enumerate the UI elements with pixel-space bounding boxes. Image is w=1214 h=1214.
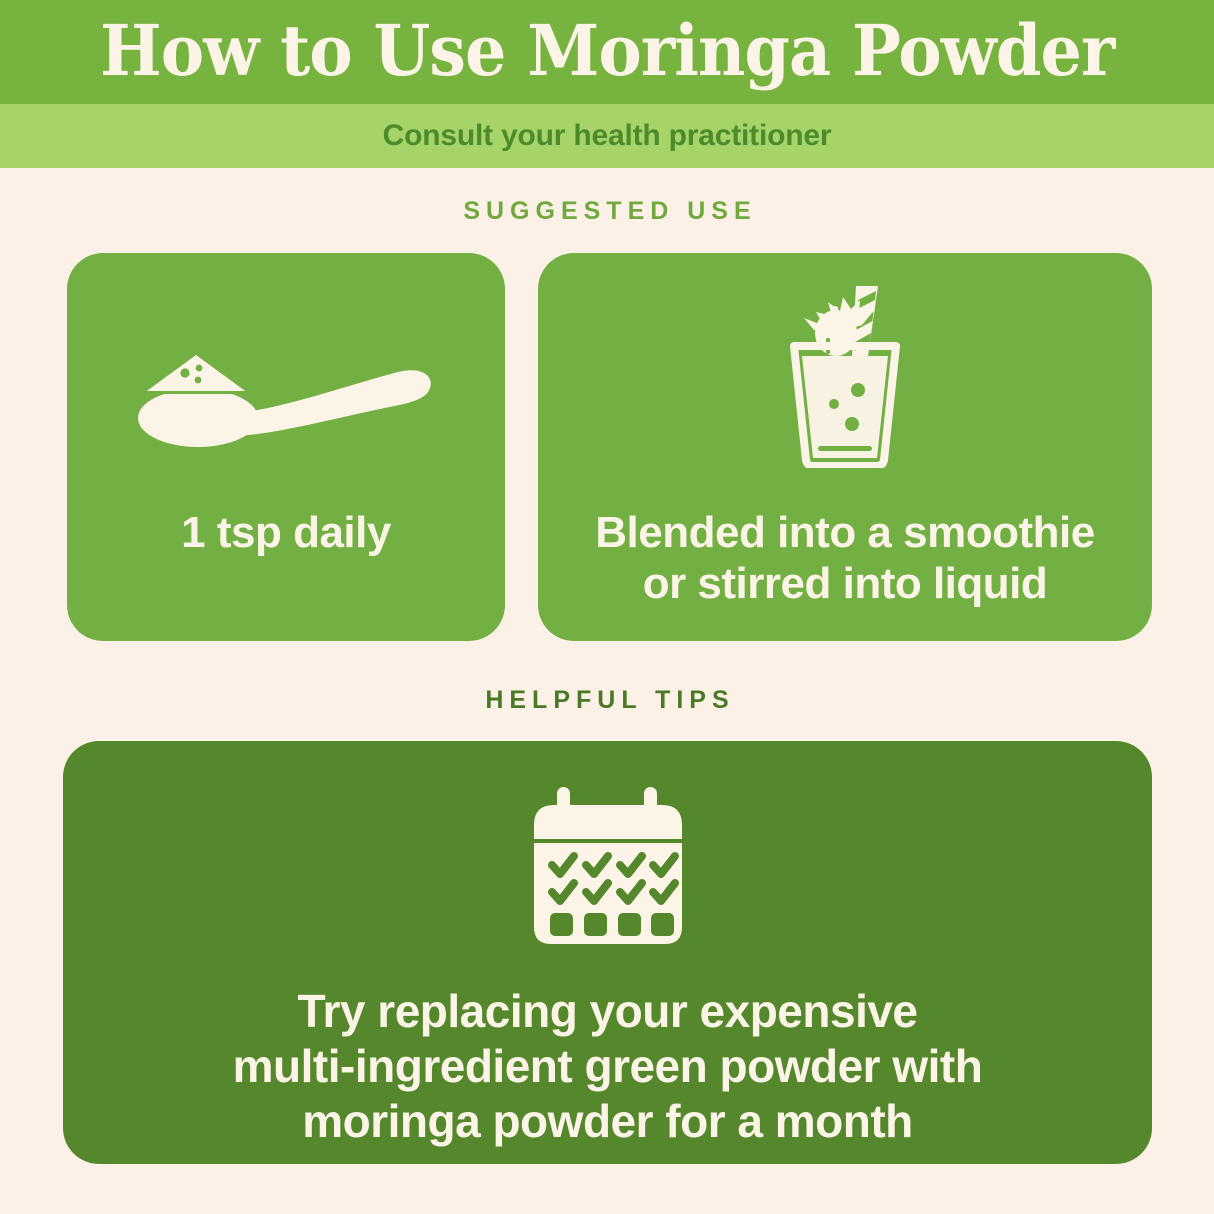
card-mixing-line-1: Blended into a smoothie xyxy=(595,507,1094,558)
card-tip-label: Try replacing your expensive multi-ingre… xyxy=(233,984,983,1150)
card-dosage-label: 1 tsp daily xyxy=(181,507,391,558)
subheader-band: Consult your health practitioner xyxy=(0,104,1214,168)
page-title: How to Use Moringa Powder xyxy=(100,16,1114,86)
smoothie-glass-icon xyxy=(780,278,910,473)
card-mixing-label: Blended into a smoothie or stirred into … xyxy=(595,507,1094,609)
card-mixing: Blended into a smoothie or stirred into … xyxy=(538,253,1152,641)
page-subtitle: Consult your health practitioner xyxy=(383,119,832,153)
card-tip: Try replacing your expensive multi-ingre… xyxy=(63,741,1152,1164)
calendar-icon xyxy=(524,787,692,952)
card-tip-line-3: moringa powder for a month xyxy=(233,1094,983,1149)
section-label-suggested-use: SUGGESTED USE xyxy=(0,197,1214,226)
spoon-of-powder-icon xyxy=(136,346,436,461)
section-label-helpful-tips: HELPFUL TIPS xyxy=(0,686,1214,715)
card-dosage: 1 tsp daily xyxy=(67,253,505,641)
card-tip-line-1: Try replacing your expensive xyxy=(233,984,983,1039)
card-tip-line-2: multi-ingredient green powder with xyxy=(233,1039,983,1094)
infographic-root: How to Use Moringa Powder Consult your h… xyxy=(0,0,1214,1214)
header-band: How to Use Moringa Powder xyxy=(0,0,1214,104)
card-mixing-line-2: or stirred into liquid xyxy=(595,558,1094,609)
